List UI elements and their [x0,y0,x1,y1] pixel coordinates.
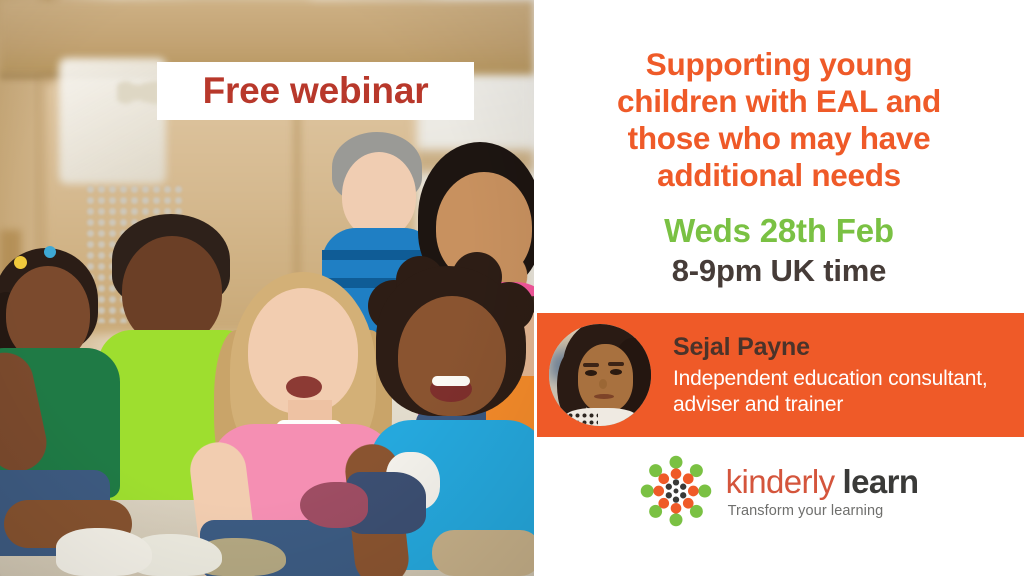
webinar-date: Weds 28th Feb [534,212,1024,250]
speaker-role: Independent education consultant, advise… [673,366,988,416]
avatar-eye [585,370,597,376]
child-one-hair-bead [44,246,56,258]
kinderly-learn-logo: kinderly learn Transform your learning [534,455,1024,527]
speaker-bar: Sejal Payne Independent education consul… [537,313,1024,437]
webinar-time: 8-9pm UK time [534,253,1024,289]
content-panel: Supporting young children with EAL and t… [534,0,1024,576]
speaker-avatar [549,324,651,426]
logo-wordmark: kinderly learn [726,463,919,501]
webinar-headline: Supporting young children with EAL and t… [534,46,1024,193]
logo-brand-primary: kinderly [726,463,835,501]
speaker-role-line-2: adviser and trainer [673,392,988,417]
headline-line-2: children with EAL and [556,83,1002,120]
speaker-role-line-1: Independent education consultant, [673,366,988,391]
avatar-clothing-pattern [567,412,598,426]
logo-tagline: Transform your learning [728,503,919,519]
child-four-leg [432,530,534,576]
child-background-head [342,152,416,238]
headline-line-1: Supporting young [556,46,1002,83]
avatar-eyebrow [583,363,599,367]
free-webinar-label: Free webinar [203,70,429,112]
logo-wordmark-group: kinderly learn Transform your learning [726,463,919,519]
webinar-promo-poster: Free webinar Supporting young children w… [0,0,1024,576]
speaker-details: Sejal Payne Independent education consul… [673,333,988,416]
headline-line-3: those who may have [556,120,1002,157]
kinderly-dot-burst-icon [640,455,712,527]
classroom-photo: Free webinar [0,0,534,576]
child-one-hair-bead [14,256,27,269]
child-sandal [300,482,368,528]
child-four-teeth [432,376,470,386]
child-three-mouth [286,376,322,398]
avatar-face [578,344,633,411]
logo-brand-secondary: learn [843,463,919,501]
avatar-eyebrow [608,362,624,366]
speaker-name: Sejal Payne [673,333,988,362]
photo-bin-detail [117,81,160,104]
photo-storage-bin [59,58,166,185]
headline-line-4: additional needs [556,157,1002,194]
free-webinar-banner: Free webinar [157,62,474,120]
